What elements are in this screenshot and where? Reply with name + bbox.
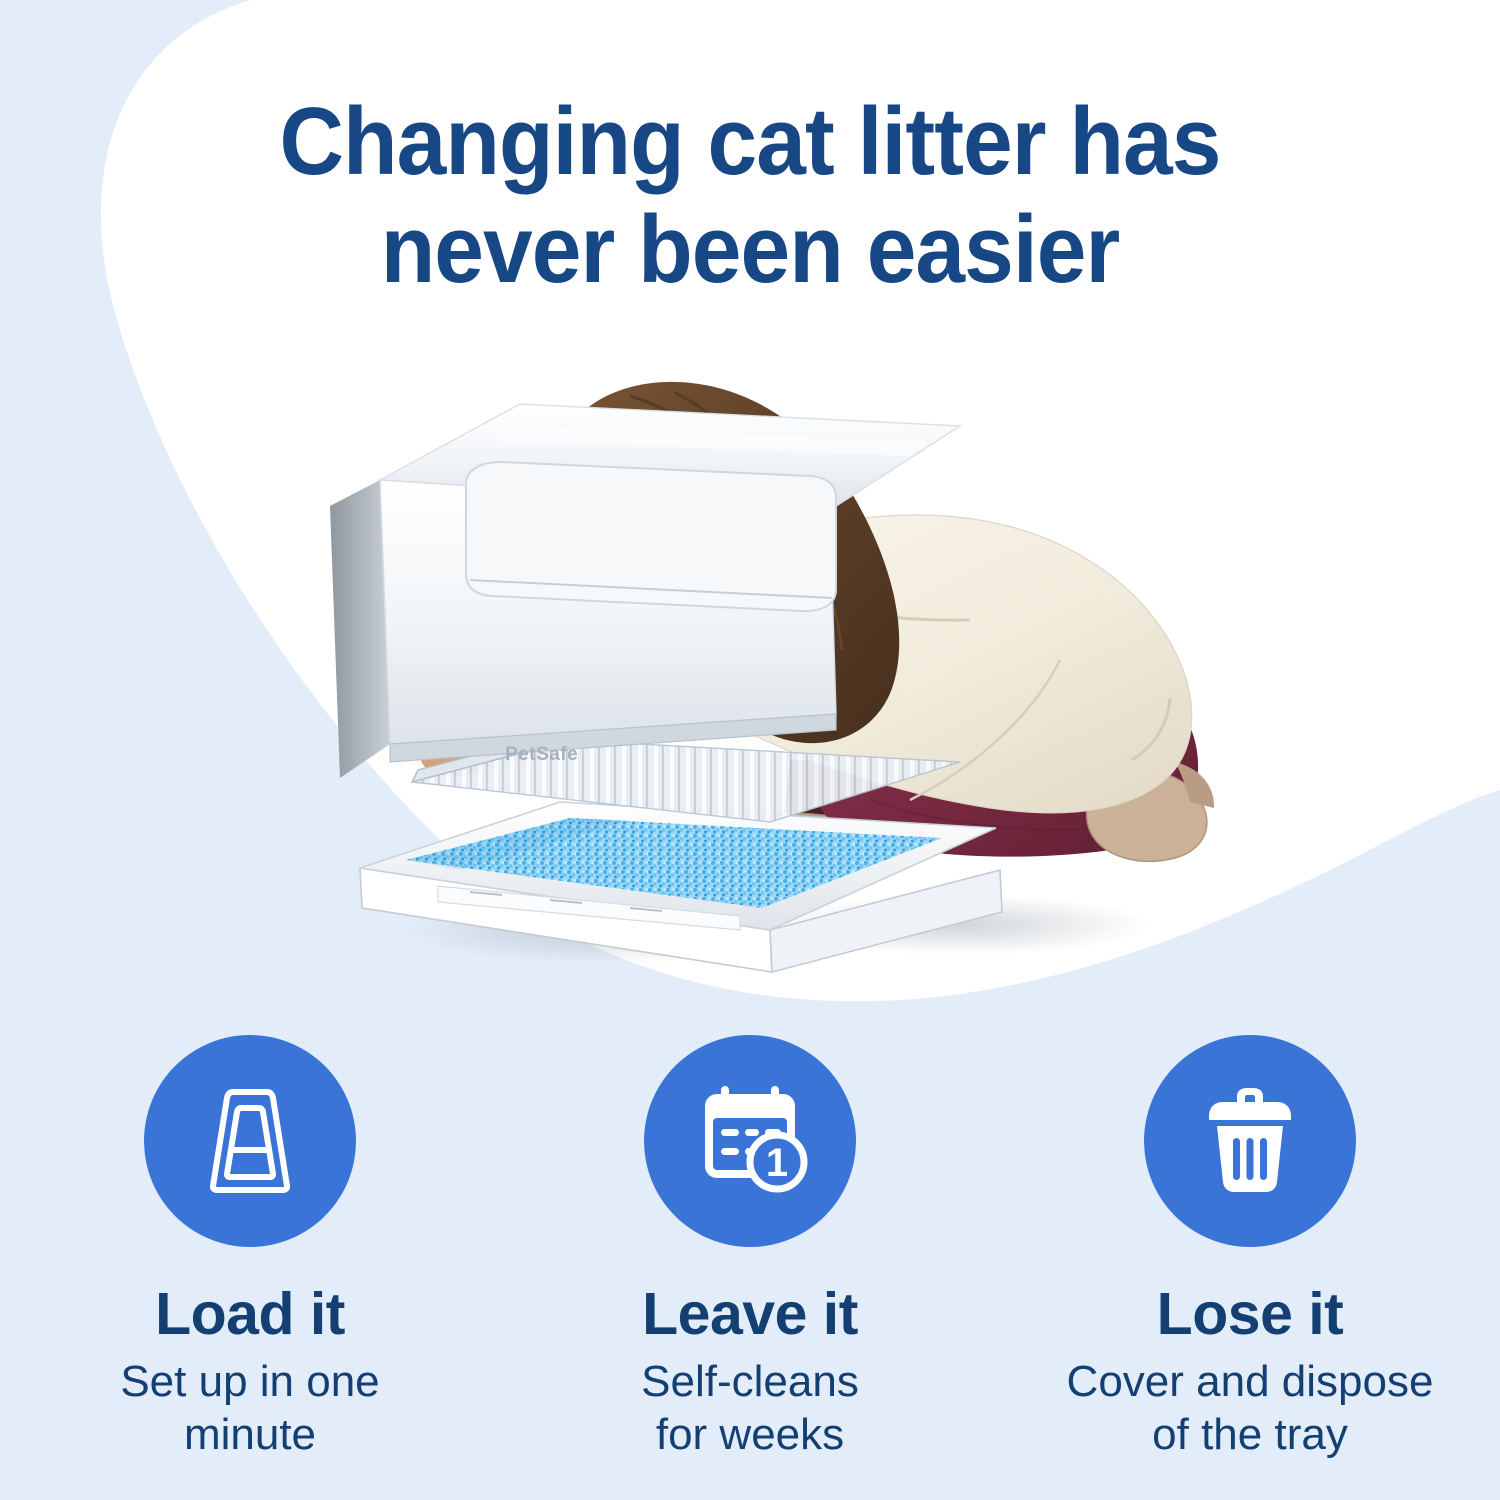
calendar-one-icon: 1: [687, 1078, 813, 1204]
marketing-infographic: Changing cat litter has never been easie…: [0, 0, 1500, 1500]
feature-title-load-it: Load it: [155, 1283, 345, 1345]
calendar-badge-number: 1: [766, 1141, 788, 1185]
feature-desc-lose-it: Cover and dispose of the tray: [1067, 1355, 1434, 1461]
trash-can-icon: [1187, 1078, 1313, 1204]
icon-circle-lose-it: [1144, 1035, 1356, 1247]
icon-circle-leave-it: 1: [644, 1035, 856, 1247]
litter-tray-icon: [187, 1078, 313, 1204]
page-title: Changing cat litter has never been easie…: [53, 88, 1448, 304]
feature-title-leave-it: Leave it: [642, 1283, 858, 1345]
feature-load-it: Load it Set up in one minute: [0, 1035, 500, 1461]
feature-title-lose-it: Lose it: [1157, 1283, 1344, 1345]
icon-circle-load-it: [144, 1035, 356, 1247]
feature-leave-it: 1 Leave it Self-cleans for weeks: [500, 1035, 1000, 1461]
feature-desc-leave-it: Self-cleans for weeks: [641, 1355, 859, 1461]
feature-desc-load-it: Set up in one minute: [120, 1355, 379, 1461]
feature-lose-it: Lose it Cover and dispose of the tray: [1000, 1035, 1500, 1461]
feature-row: Load it Set up in one minute: [0, 1035, 1500, 1461]
hero-product-photo: [270, 330, 1270, 1030]
